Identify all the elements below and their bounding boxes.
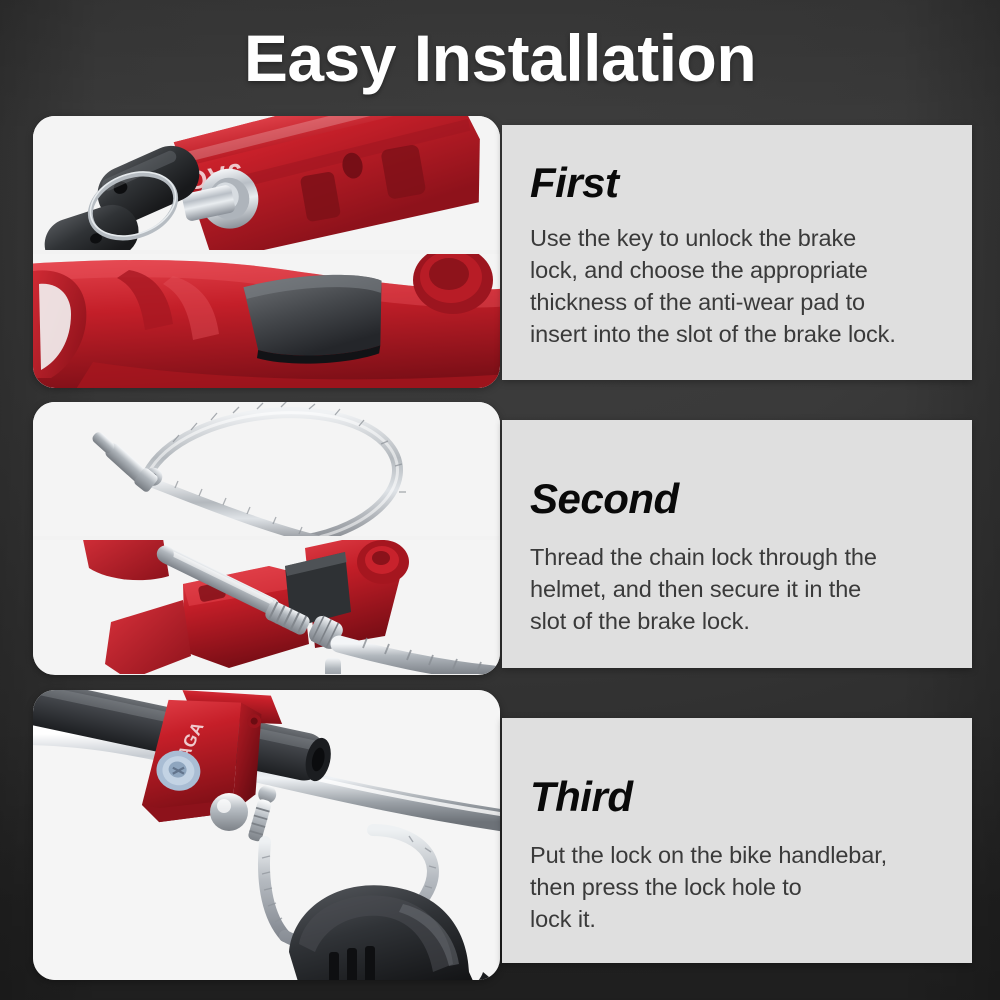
photo-lock-on-handlebar-with-helmet: JAGA — [33, 690, 500, 980]
photo-lock-jaw-anti-wear-pad — [33, 254, 500, 388]
step-3-title: Third — [530, 776, 944, 818]
step-3-text-card: Third Put the lock on the bike handlebar… — [502, 718, 972, 963]
step-1-title: First — [530, 162, 944, 204]
step-1-text-card: First Use the key to unlock the brake lo… — [502, 125, 972, 380]
page-title: Easy Installation — [0, 22, 1000, 96]
step-2-text-card: Second Thread the chain lock through the… — [502, 420, 972, 668]
step-3-body: Put the lock on the bike handlebar, then… — [530, 840, 944, 936]
step-2-body: Thread the chain lock through the helmet… — [530, 542, 944, 638]
step-3-photo-card: JAGA — [33, 690, 500, 980]
step-1-body: Use the key to unlock the brake lock, an… — [530, 223, 944, 351]
photo-steel-cable-chain-lock — [33, 402, 500, 536]
step-2-title: Second — [530, 478, 944, 520]
photo-red-brake-lock-with-key: JAGA — [33, 116, 500, 250]
photo-cable-pin-into-lock-slot — [33, 540, 500, 674]
step-2-photo-card — [33, 402, 500, 675]
step-1-photo-card: JAGA — [33, 116, 500, 388]
